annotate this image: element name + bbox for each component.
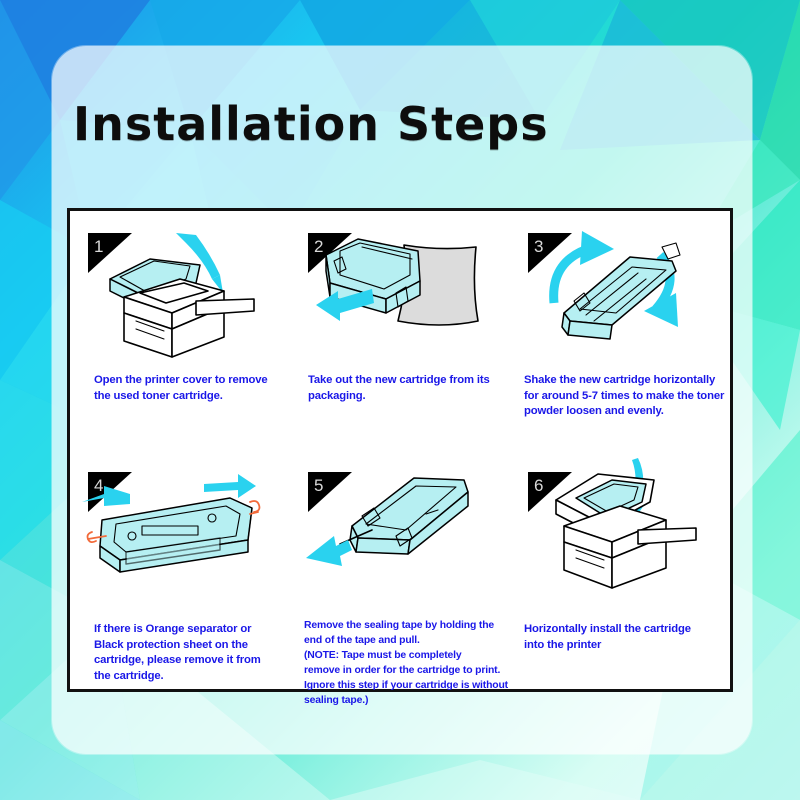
step-badge-6: 6 [528, 472, 572, 512]
caption-line: cartridge, please remove it from [94, 653, 282, 669]
step-caption-2: Take out the new cartridge from its pack… [308, 373, 502, 404]
step-number-1: 1 [94, 238, 103, 255]
step-card-4: 4 [70, 450, 290, 689]
caption-line: Remove the sealing tape by holding the [304, 618, 502, 633]
step-badge-4: 4 [88, 472, 132, 512]
step-card-1: 1 [70, 211, 290, 450]
step-caption-3: Shake the new cartridge horizontally for… [524, 373, 722, 420]
step-number-5: 5 [314, 477, 323, 494]
step-badge-1: 1 [88, 233, 132, 273]
step-card-5: 5 [290, 450, 510, 689]
steps-grid: 1 [70, 211, 730, 689]
caption-line: the used toner cartridge. [94, 389, 282, 405]
step-caption-1: Open the printer cover to remove the use… [94, 373, 282, 404]
caption-line: Black protection sheet on the [94, 638, 282, 654]
step-badge-2: 2 [308, 233, 352, 273]
caption-line: Take out the new cartridge from its [308, 373, 502, 389]
step-card-3: 3 [510, 211, 730, 450]
caption-line: powder loosen and evenly. [524, 404, 722, 420]
caption-line: If there is Orange separator or [94, 622, 282, 638]
step-number-2: 2 [314, 238, 323, 255]
caption-line: remove in order for the cartridge to pri… [304, 663, 502, 678]
step-caption-5: Remove the sealing tape by holding the e… [304, 618, 502, 708]
poster-root: Installation Steps 1 [0, 0, 800, 800]
step-badge-3: 3 [528, 233, 572, 273]
step-caption-4: If there is Orange separator or Black pr… [94, 622, 282, 684]
caption-line: (NOTE: Tape must be completely [304, 648, 502, 663]
step-card-2: 2 [290, 211, 510, 450]
step-number-4: 4 [94, 477, 103, 494]
step-number-3: 3 [534, 238, 543, 255]
caption-line: packaging. [308, 389, 502, 405]
step-badge-5: 5 [308, 472, 352, 512]
step-caption-6: Horizontally install the cartridge into … [524, 622, 722, 653]
caption-line: the cartridge. [94, 669, 282, 685]
caption-line: Ignore this step if your cartridge is wi… [304, 678, 502, 693]
step-card-6: 6 [510, 450, 730, 689]
caption-line: Open the printer cover to remove [94, 373, 282, 389]
caption-line: Horizontally install the cartridge [524, 622, 722, 638]
steps-box: 1 [67, 208, 733, 692]
caption-line: for around 5-7 times to make the toner [524, 389, 722, 405]
caption-line: into the printer [524, 638, 722, 654]
step-number-6: 6 [534, 477, 543, 494]
caption-line: Shake the new cartridge horizontally [524, 373, 722, 389]
page-title: Installation Steps [73, 97, 549, 151]
caption-line: sealing tape.) [304, 693, 502, 708]
caption-line: end of the tape and pull. [304, 633, 502, 648]
